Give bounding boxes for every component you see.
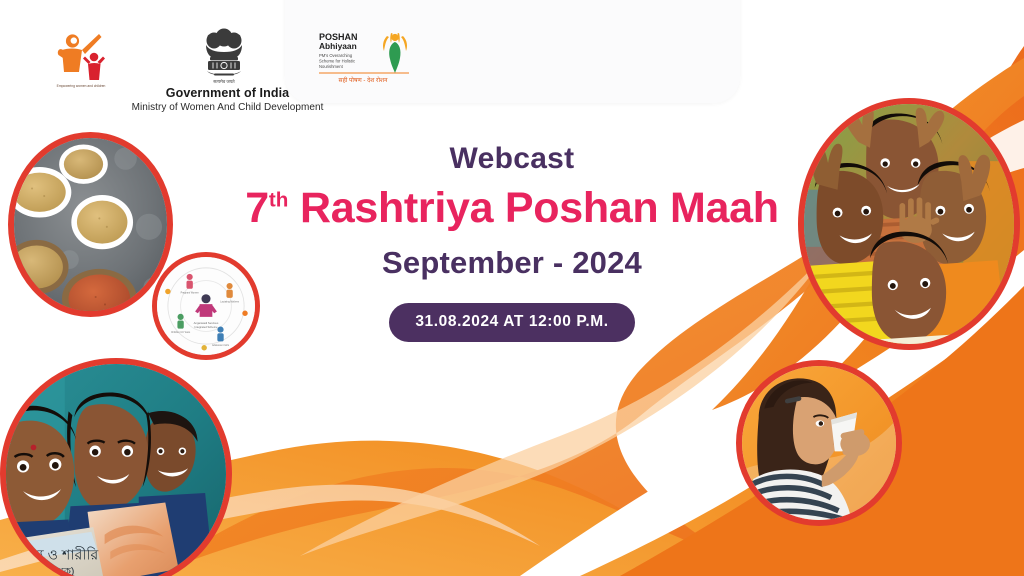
ministry-of-women-and-child-development-logo: Empowering women and children [42, 28, 120, 90]
title-ordinal-number: 7 [245, 184, 269, 232]
title-rest: Rashtriya Poshan Maah [288, 184, 778, 232]
schedule-badge-wrap: 31.08.2024 AT 12:00 P.M. [0, 303, 1024, 342]
banner-root: Empowering women and children [0, 0, 1024, 576]
page-title: 7th Rashtriya Poshan Maah [0, 184, 1024, 233]
title-ordinal-suffix: th [269, 189, 288, 212]
government-of-india-label: Government of India [0, 86, 455, 102]
svg-text:Scheme for Holistic: Scheme for Holistic [319, 59, 355, 64]
schedule-badge: 31.08.2024 AT 12:00 P.M. [389, 303, 634, 342]
photo-school-children-with-books: স্বাস্থ্য ও শারীরি (পাঠ্যপুস্তক) [0, 358, 232, 576]
national-emblem-of-india: सत्यमेव जयते [193, 28, 255, 90]
svg-text:सत्यमेव जयते: सत्यमेव जयते [213, 79, 235, 84]
government-caption: Government of India Ministry of Women An… [0, 86, 455, 114]
svg-text:PM's Overarching: PM's Overarching [319, 53, 353, 58]
main-content: Webcast 7th Rashtriya Poshan Maah Septem… [0, 142, 1024, 342]
svg-text:Nourishment: Nourishment [319, 64, 344, 69]
ministry-label: Ministry of Women And Child Development [0, 102, 455, 115]
photo-girl-drinking-milk [736, 360, 902, 526]
svg-text:सही पोषण - देश रोशन: सही पोषण - देश रोशन [339, 76, 389, 84]
svg-text:Abhiyaan: Abhiyaan [319, 41, 357, 51]
svg-text:(পাঠ্যপুস্তক): (পাঠ্যপুস্তক) [27, 565, 74, 576]
svg-text:Adolescent Girls: Adolescent Girls [212, 344, 230, 347]
logo-row: Empowering women and children [0, 28, 455, 90]
webcast-eyebrow: Webcast [0, 142, 1024, 176]
month-year-label: September - 2024 [0, 245, 1024, 281]
svg-text:স্বাস্থ্য ও শারীরি: স্বাস্থ্য ও শারীরি [16, 546, 98, 563]
poshan-abhiyaan-logo: POSHAN Abhiyaan PM's Overarching Scheme … [317, 28, 413, 88]
